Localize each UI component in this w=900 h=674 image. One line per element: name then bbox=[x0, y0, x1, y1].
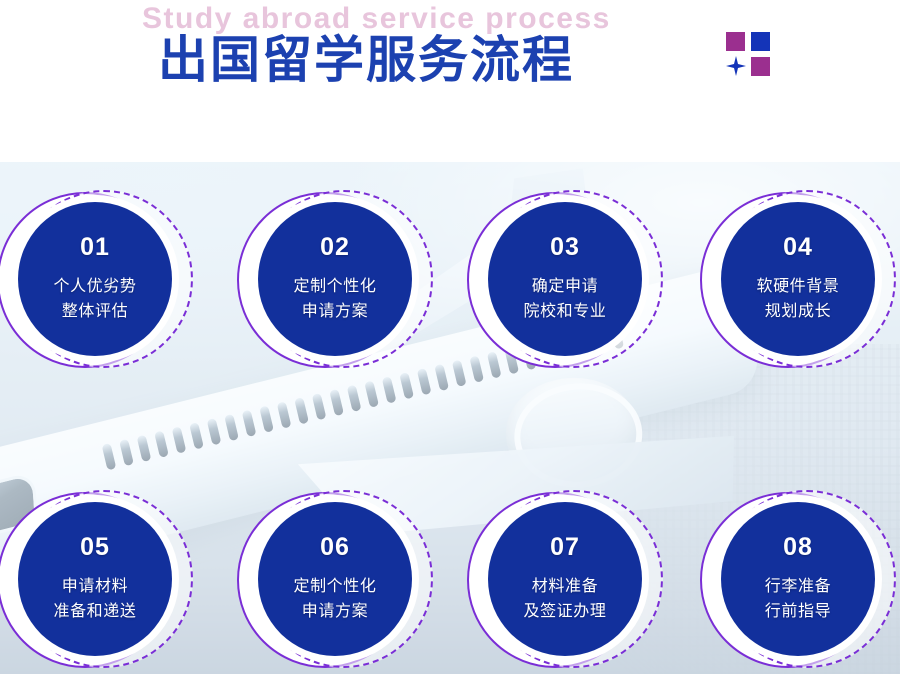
step-disc: 03 确定申请 院校和专业 bbox=[488, 202, 642, 356]
step-number: 01 bbox=[80, 235, 110, 260]
step-label-line1: 材料准备 bbox=[532, 573, 598, 598]
step-number: 08 bbox=[783, 535, 813, 560]
step-node-05[interactable]: 05 申请材料 准备和递送 bbox=[0, 490, 193, 674]
step-node-04[interactable]: 04 软硬件背景 规划成长 bbox=[700, 190, 896, 386]
step-label-line2: 申请方案 bbox=[302, 598, 368, 623]
step-number: 07 bbox=[550, 535, 580, 560]
step-label-line1: 确定申请 bbox=[532, 273, 598, 298]
step-node-07[interactable]: 07 材料准备 及签证办理 bbox=[467, 490, 663, 674]
step-disc: 02 定制个性化 申请方案 bbox=[258, 202, 412, 356]
purple-square-icon bbox=[751, 57, 770, 76]
step-label-line2: 规划成长 bbox=[765, 298, 831, 323]
page-title: 出国留学服务流程 bbox=[158, 20, 574, 92]
step-node-08[interactable]: 08 行李准备 行前指导 bbox=[700, 490, 896, 674]
sparkle-star-icon bbox=[726, 56, 746, 76]
step-number: 02 bbox=[320, 235, 350, 260]
step-number: 03 bbox=[550, 235, 580, 260]
step-node-06[interactable]: 06 定制个性化 申请方案 bbox=[237, 490, 433, 674]
step-number: 06 bbox=[320, 535, 350, 560]
step-label-line1: 软硬件背景 bbox=[756, 273, 839, 298]
step-label-line1: 定制个性化 bbox=[293, 273, 376, 298]
study-abroad-process-infographic: Study abroad service process 出国留学服务流程 01… bbox=[0, 0, 900, 674]
step-disc: 01 个人优劣势 整体评估 bbox=[18, 202, 172, 356]
step-label-line2: 准备和递送 bbox=[53, 598, 136, 623]
step-label-line1: 申请材料 bbox=[62, 573, 128, 598]
step-label-line2: 行前指导 bbox=[765, 598, 831, 623]
step-label-line2: 申请方案 bbox=[302, 298, 368, 323]
step-disc: 05 申请材料 准备和递送 bbox=[18, 502, 172, 656]
step-number: 04 bbox=[783, 235, 813, 260]
step-node-02[interactable]: 02 定制个性化 申请方案 bbox=[237, 190, 433, 386]
step-number: 05 bbox=[80, 535, 110, 560]
purple-square-icon bbox=[726, 32, 745, 51]
blue-square-icon bbox=[751, 32, 770, 51]
step-disc: 04 软硬件背景 规划成长 bbox=[721, 202, 875, 356]
step-label-line1: 个人优劣势 bbox=[53, 273, 136, 298]
step-label-line2: 整体评估 bbox=[62, 298, 128, 323]
header: Study abroad service process 出国留学服务流程 bbox=[0, 0, 900, 162]
step-label-line2: 院校和专业 bbox=[523, 298, 606, 323]
step-disc: 08 行李准备 行前指导 bbox=[721, 502, 875, 656]
step-node-01[interactable]: 01 个人优劣势 整体评估 bbox=[0, 190, 193, 386]
step-disc: 06 定制个性化 申请方案 bbox=[258, 502, 412, 656]
title-block: Study abroad service process 出国留学服务流程 bbox=[0, 0, 900, 100]
step-node-03[interactable]: 03 确定申请 院校和专业 bbox=[467, 190, 663, 386]
step-label-line2: 及签证办理 bbox=[523, 598, 606, 623]
step-disc: 07 材料准备 及签证办理 bbox=[488, 502, 642, 656]
title-decoration bbox=[726, 32, 774, 80]
step-label-line1: 行李准备 bbox=[765, 573, 831, 598]
step-label-line1: 定制个性化 bbox=[293, 573, 376, 598]
